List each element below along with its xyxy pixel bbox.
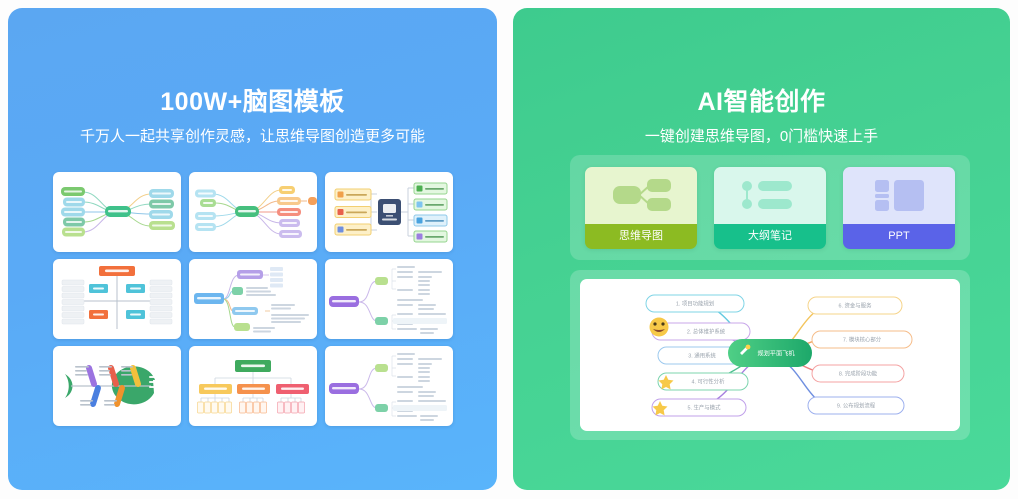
right-panel-title: AI智能创作 bbox=[513, 90, 1010, 115]
mm-left-label-4: 4. 可行性分析 bbox=[692, 378, 726, 386]
mm-left-label-2: 2. 总体维护系统 bbox=[687, 328, 726, 336]
ai-card-outline-notes[interactable]: 大纲笔记 bbox=[714, 167, 826, 249]
ai-feature-card-group: 思维导图 大纲笔记 bbox=[570, 155, 970, 260]
left-headline-group: 100W+脑图模板 千万人一起共享创作灵感，让思维导图创造更多可能 bbox=[8, 90, 497, 144]
template-thumb-org-chart[interactable] bbox=[189, 346, 317, 426]
mm-right-label-2: 7. 模块核心部分 bbox=[843, 336, 882, 344]
ai-card-outline-notes-label: 大纲笔记 bbox=[714, 224, 826, 249]
mm-left-label-3: 3. 通用系统 bbox=[688, 352, 716, 360]
right-headline-group: AI智能创作 一键创建思维导图，0门槛快速上手 bbox=[513, 90, 1010, 144]
left-panel-subtitle: 千万人一起共享创作灵感，让思维导图创造更多可能 bbox=[8, 129, 497, 144]
mm-center-label: 规划平面飞机 bbox=[757, 350, 795, 358]
mm-left-label-5: 5. 生产与模式 bbox=[688, 404, 722, 412]
ai-mindmap-preview[interactable]: 1. 项目功能规划 2. 总体维护系统 3. 通用系统 4. 可行性分析 5. … bbox=[580, 279, 960, 431]
mm-left-label-1: 1. 项目功能规划 bbox=[676, 300, 714, 308]
template-thumbnail-grid bbox=[53, 172, 453, 426]
template-thumb-outline-purple[interactable] bbox=[325, 259, 453, 339]
mm-right-label-4: 9. 公布规划流程 bbox=[837, 402, 876, 410]
mm-badge-emoji bbox=[650, 318, 669, 337]
mm-right-label-1: 6. 资金与服务 bbox=[839, 302, 873, 310]
promo-banner: 100W+脑图模板 千万人一起共享创作灵感，让思维导图创造更多可能 bbox=[0, 0, 1018, 499]
template-thumb-fishbone[interactable] bbox=[53, 346, 181, 426]
slide-layout-icon bbox=[843, 167, 955, 224]
mm-right-label-3: 8. 完成阶段功能 bbox=[839, 370, 878, 378]
left-panel-title: 100W+脑图模板 bbox=[8, 90, 497, 115]
ai-mindmap-preview-wrap: 1. 项目功能规划 2. 总体维护系统 3. 通用系统 4. 可行性分析 5. … bbox=[570, 270, 970, 440]
template-thumb-swot-matrix[interactable] bbox=[53, 259, 181, 339]
left-promo-panel[interactable]: 100W+脑图模板 千万人一起共享创作灵感，让思维导图创造更多可能 bbox=[8, 8, 497, 490]
mindmap-icon bbox=[585, 167, 697, 224]
template-thumb-radial-colorful[interactable] bbox=[189, 172, 317, 252]
ai-card-ppt[interactable]: PPT bbox=[843, 167, 955, 249]
outline-list-icon bbox=[714, 167, 826, 224]
right-panel-subtitle: 一键创建思维导图，0门槛快速上手 bbox=[513, 129, 1010, 144]
ai-card-mindmap-label: 思维导图 bbox=[585, 224, 697, 249]
template-thumb-project-plan[interactable] bbox=[325, 172, 453, 252]
ai-card-mindmap[interactable]: 思维导图 bbox=[585, 167, 697, 249]
template-thumb-outline-purple-2[interactable] bbox=[325, 346, 453, 426]
template-thumb-radial-green[interactable] bbox=[53, 172, 181, 252]
ai-card-ppt-label: PPT bbox=[843, 224, 955, 249]
template-thumb-logic-tree[interactable] bbox=[189, 259, 317, 339]
